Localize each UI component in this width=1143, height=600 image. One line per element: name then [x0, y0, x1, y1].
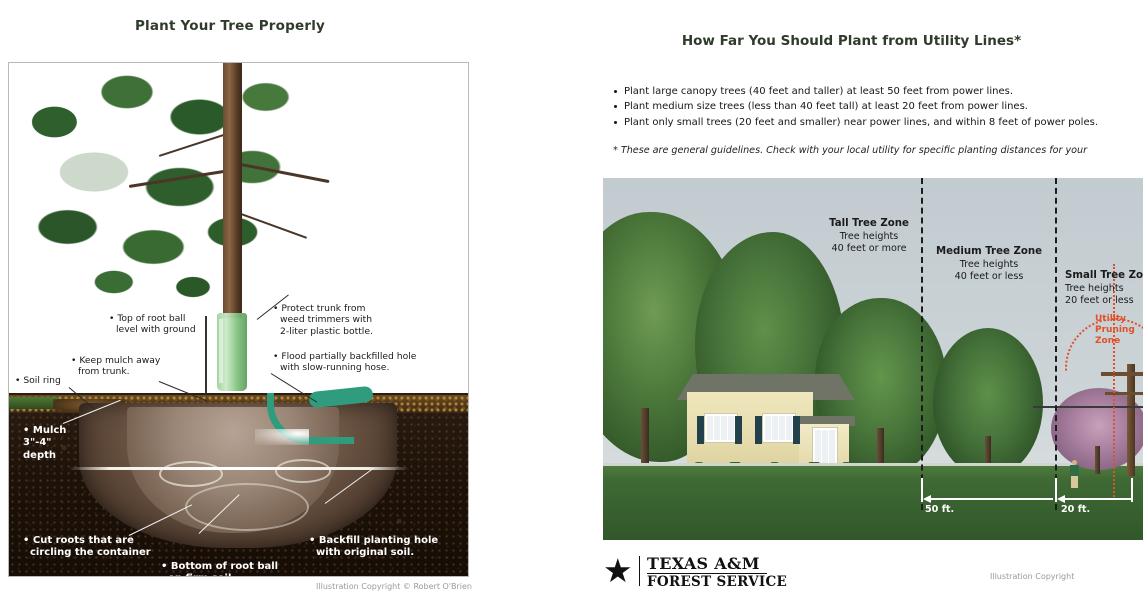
right-copyright: Illustration Copyright: [990, 572, 1074, 581]
measure-line-20ft: [1059, 498, 1131, 500]
house-window: [705, 414, 737, 442]
texas-am-forest-service-logo: ★ TEXAS A&M FOREST SERVICE: [603, 552, 853, 592]
label-line: • Top of root ball: [109, 313, 185, 324]
utility-lines-illustration: Tall Tree Zone Tree heights 40 feet or m…: [603, 178, 1143, 540]
label-line: 3"-4": [23, 437, 52, 448]
label-line: weed trimmers with: [273, 314, 372, 325]
zone-line2: 40 feet or more: [832, 243, 907, 254]
left-panel: Plant Your Tree Properly: [0, 0, 490, 600]
tree-trunk: [223, 63, 242, 318]
label-line: circling the container: [23, 547, 151, 558]
label-line: depth: [23, 450, 56, 461]
zone-label-small: Small Tree Zone Tree heights 20 feet or …: [1065, 270, 1143, 308]
grass-patch: [9, 397, 59, 409]
logo-line-1: TEXAS A&M: [647, 554, 760, 573]
pruning-line1: Utility: [1095, 314, 1126, 324]
zone-divider-medium-small: [1055, 178, 1057, 510]
zone-line1: Tree heights: [840, 231, 899, 242]
left-panel-title: Plant Your Tree Properly: [0, 18, 460, 34]
logo-line-2: FOREST SERVICE: [647, 574, 787, 590]
pruning-line2: Pruning: [1095, 325, 1135, 335]
label-line: • Mulch: [23, 425, 66, 436]
list-item: Plant medium size trees (less than 40 fe…: [613, 99, 1143, 114]
small-tree-trunk: [1095, 446, 1100, 474]
label-line: • Bottom of root ball: [161, 561, 278, 572]
label-protect-trunk: • Protect trunk from weed trimmers with …: [273, 303, 373, 337]
person-legs: [1071, 476, 1078, 488]
leader-line: [205, 316, 207, 394]
water-flow: [255, 429, 309, 445]
zone-title: Medium Tree Zone: [933, 246, 1045, 259]
root-strand: [185, 483, 309, 531]
root-strand: [275, 459, 331, 483]
label-mulch-depth: • Mulch 3"-4" depth: [23, 425, 66, 462]
window-panes: [707, 416, 735, 440]
label-flood-backfilled-hole: • Flood partially backfilled hole with s…: [273, 351, 416, 374]
label-line: with original soil.: [309, 547, 414, 558]
right-panel: How Far You Should Plant from Utility Li…: [560, 0, 1143, 600]
zone-label-tall: Tall Tree Zone Tree heights 40 feet or m…: [815, 218, 923, 256]
house-window: [763, 414, 795, 442]
poster-page: Plant Your Tree Properly: [0, 0, 1143, 600]
window-shutter: [793, 416, 800, 444]
zone-line1: Tree heights: [1065, 283, 1124, 294]
right-panel-title: How Far You Should Plant from Utility Li…: [560, 33, 1143, 49]
list-item: Plant large canopy trees (40 feet and ta…: [613, 84, 1143, 99]
measure-label-50ft: 50 ft.: [925, 504, 954, 515]
zone-line1: Tree heights: [960, 259, 1019, 270]
zone-label-medium: Medium Tree Zone Tree heights 40 feet or…: [933, 246, 1045, 284]
star-icon: ★: [603, 556, 633, 586]
tall-tree-trunk: [641, 408, 649, 470]
door-panes: [815, 430, 835, 464]
logo-divider: [639, 556, 640, 586]
list-item: Plant only small trees (20 feet and smal…: [613, 115, 1143, 130]
plastic-bottle-trunk-guard: [217, 313, 247, 391]
label-backfill-planting-hole: • Backfill planting hole with original s…: [309, 535, 438, 560]
label-line: • Backfill planting hole: [309, 535, 438, 546]
plant-tree-illustration: • Top of root ball level with ground • K…: [8, 62, 469, 577]
footnote-text: * These are general guidelines. Check wi…: [613, 145, 1143, 156]
zone-line2: 40 feet or less: [955, 271, 1024, 282]
person-torso: [1070, 465, 1079, 476]
measure-label-20ft: 20 ft.: [1061, 504, 1090, 515]
label-bottom-of-root-ball: • Bottom of root ball on firm soil: [161, 561, 278, 577]
measure-arrow-left: [1057, 495, 1065, 503]
label-line: • Keep mulch away: [71, 355, 160, 366]
label-line: • Flood partially backfilled hole: [273, 351, 416, 362]
label-keep-mulch-away: • Keep mulch away from trunk.: [71, 355, 160, 378]
label-cut-roots: • Cut roots that are circling the contai…: [23, 535, 151, 560]
pruning-line3: Zone: [1095, 336, 1120, 346]
label-line: from trunk.: [71, 366, 130, 377]
guideline-bullet-list: Plant large canopy trees (40 feet and ta…: [613, 84, 1143, 130]
zone-title: Tall Tree Zone: [815, 218, 923, 231]
original-soil-line: [69, 467, 409, 470]
window-shutter: [735, 416, 742, 444]
label-line: • Protect trunk from: [273, 303, 365, 314]
window-shutter: [755, 416, 762, 444]
measure-line-50ft: [925, 498, 1053, 500]
left-copyright: Illustration Copyright © Robert O'Brien: [0, 582, 472, 591]
label-top-of-root-ball: • Top of root ball level with ground: [109, 313, 196, 336]
window-shutter: [697, 416, 704, 444]
tree-canopy-right: [159, 65, 459, 295]
label-line: • Soil ring: [15, 375, 61, 386]
label-line: • Cut roots that are: [23, 535, 134, 546]
zone-title: Small Tree Zone: [1065, 270, 1143, 283]
label-line: level with ground: [109, 324, 196, 335]
label-line: 2-liter plastic bottle.: [273, 326, 373, 337]
zone-line2: 20 feet or less: [1065, 295, 1134, 306]
measure-arrow-left: [923, 495, 931, 503]
window-panes: [765, 416, 793, 440]
label-line: with slow-running hose.: [273, 362, 389, 373]
root-strand: [159, 461, 223, 487]
porch-door: [813, 428, 837, 466]
pruning-zone-label: Utility Pruning Zone: [1095, 314, 1143, 347]
measure-tick: [1131, 478, 1133, 502]
lawn: [603, 466, 1143, 540]
label-line: on firm soil: [161, 573, 231, 577]
label-soil-ring: • Soil ring: [15, 375, 61, 386]
